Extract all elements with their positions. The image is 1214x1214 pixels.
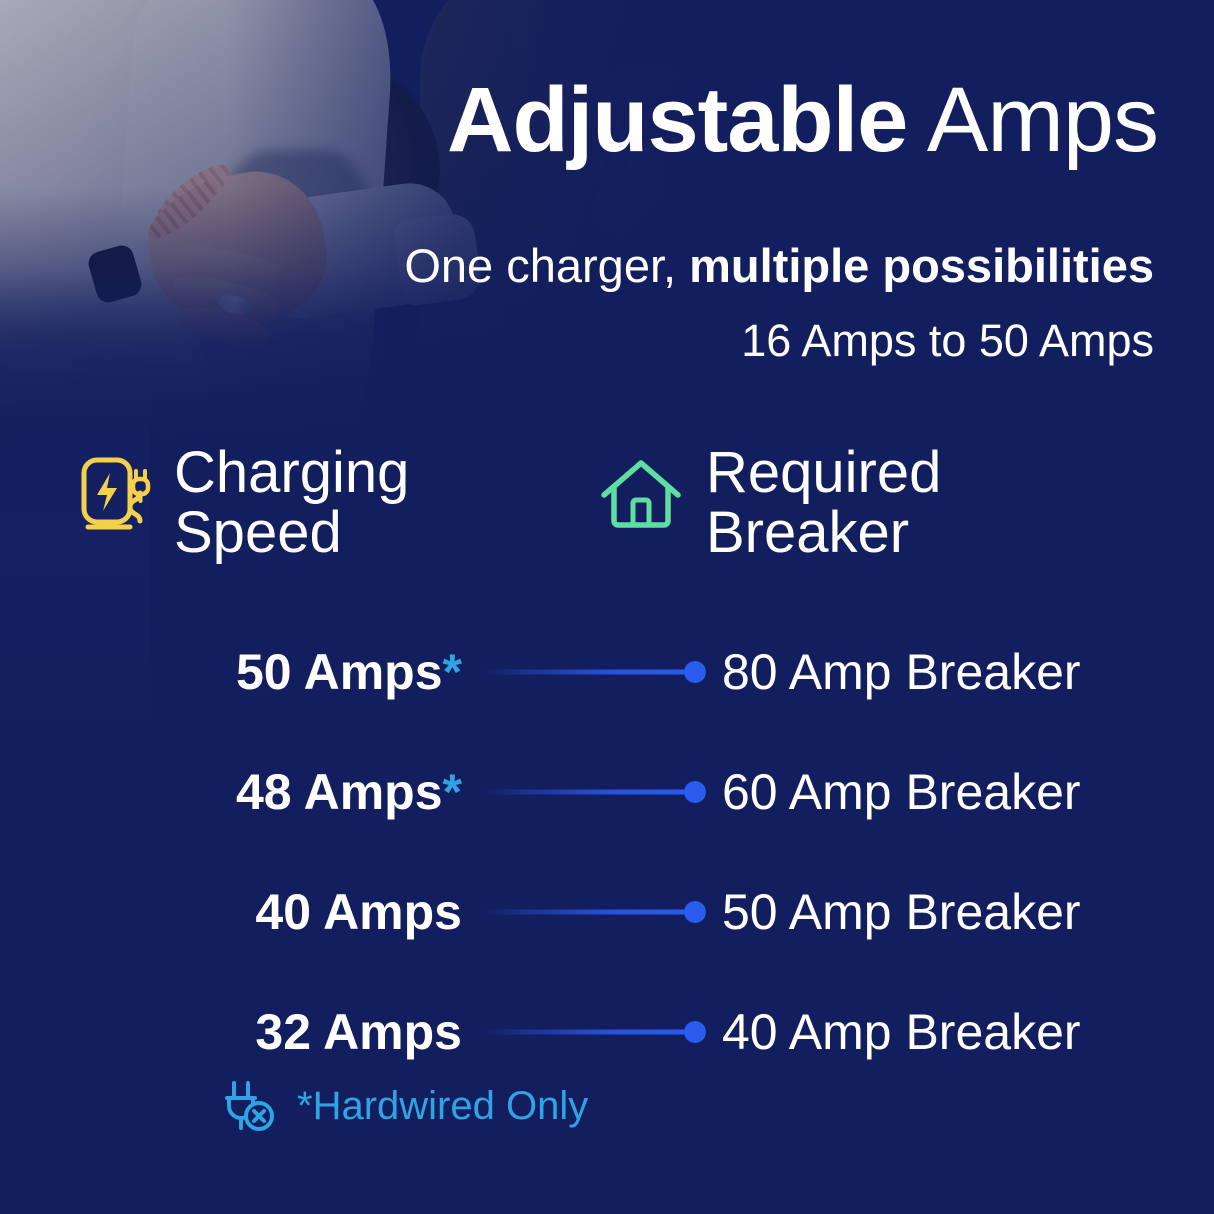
connector-line (482, 790, 696, 795)
hardwired-asterisk: * (443, 644, 462, 700)
row-connector (482, 662, 706, 682)
connector-line (482, 670, 696, 675)
column-header-label: Charging Speed (174, 443, 409, 564)
column-header-label: Required Breaker (706, 443, 941, 564)
footnote-text: *Hardwired Only (297, 1084, 588, 1129)
content-layer: Adjustable Amps One charger, multiple po… (0, 0, 1214, 1214)
subtitle-bold: multiple possibilities (689, 239, 1154, 292)
table-row: 40 Amps 50 Amp Breaker (0, 852, 1214, 972)
table-row: 50 Amps* 80 Amp Breaker (0, 612, 1214, 732)
hardwired-asterisk: * (443, 764, 462, 820)
infographic-canvas: Adjustable Amps One charger, multiple po… (0, 0, 1214, 1214)
page-title: Adjustable Amps (0, 72, 1158, 169)
subtitle-line-2: 16 Amps to 50 Amps (0, 315, 1154, 367)
row-connector (482, 782, 706, 802)
page-title-light: Amps (907, 69, 1158, 171)
home-icon (598, 455, 684, 540)
charging-speed-cell: 50 Amps* (0, 643, 470, 701)
footnote: *Hardwired Only (215, 1073, 588, 1140)
charging-speed-cell: 32 Amps (0, 1003, 470, 1061)
subtitle-normal: One charger, (404, 239, 689, 292)
charging-speed-value: 50 Amps (236, 644, 443, 700)
connector-line (482, 910, 696, 915)
charging-speed-cell: 40 Amps (0, 883, 470, 941)
no-plug-icon (215, 1073, 277, 1140)
column-header-charging-speed: Charging Speed (78, 443, 598, 564)
required-breaker-cell: 50 Amp Breaker (712, 883, 1081, 941)
table-row: 32 Amps 40 Amp Breaker (0, 972, 1214, 1092)
table-row: 48 Amps* 60 Amp Breaker (0, 732, 1214, 852)
charging-speed-cell: 48 Amps* (0, 763, 470, 821)
charging-speed-value: 32 Amps (255, 1004, 462, 1060)
connector-dot (684, 901, 706, 923)
required-breaker-cell: 40 Amp Breaker (712, 1003, 1081, 1061)
required-breaker-cell: 60 Amp Breaker (712, 763, 1081, 821)
connector-dot (684, 661, 706, 683)
row-connector (482, 902, 706, 922)
page-title-bold: Adjustable (447, 69, 907, 171)
charging-speed-value: 40 Amps (255, 884, 462, 940)
connector-line (482, 1030, 696, 1035)
column-header-required-breaker: Required Breaker (598, 443, 1118, 564)
required-breaker-cell: 80 Amp Breaker (712, 643, 1081, 701)
column-headers: Charging Speed Required Breaker (78, 443, 1138, 564)
charging-speed-value: 48 Amps (236, 764, 443, 820)
connector-dot (684, 781, 706, 803)
row-connector (482, 1022, 706, 1042)
subtitle-line-1: One charger, multiple possibilities (0, 240, 1154, 293)
ev-charging-station-icon (78, 455, 152, 540)
amps-breaker-table: 50 Amps* 80 Amp Breaker 48 Amps* 60 Amp … (0, 612, 1214, 1092)
connector-dot (684, 1021, 706, 1043)
